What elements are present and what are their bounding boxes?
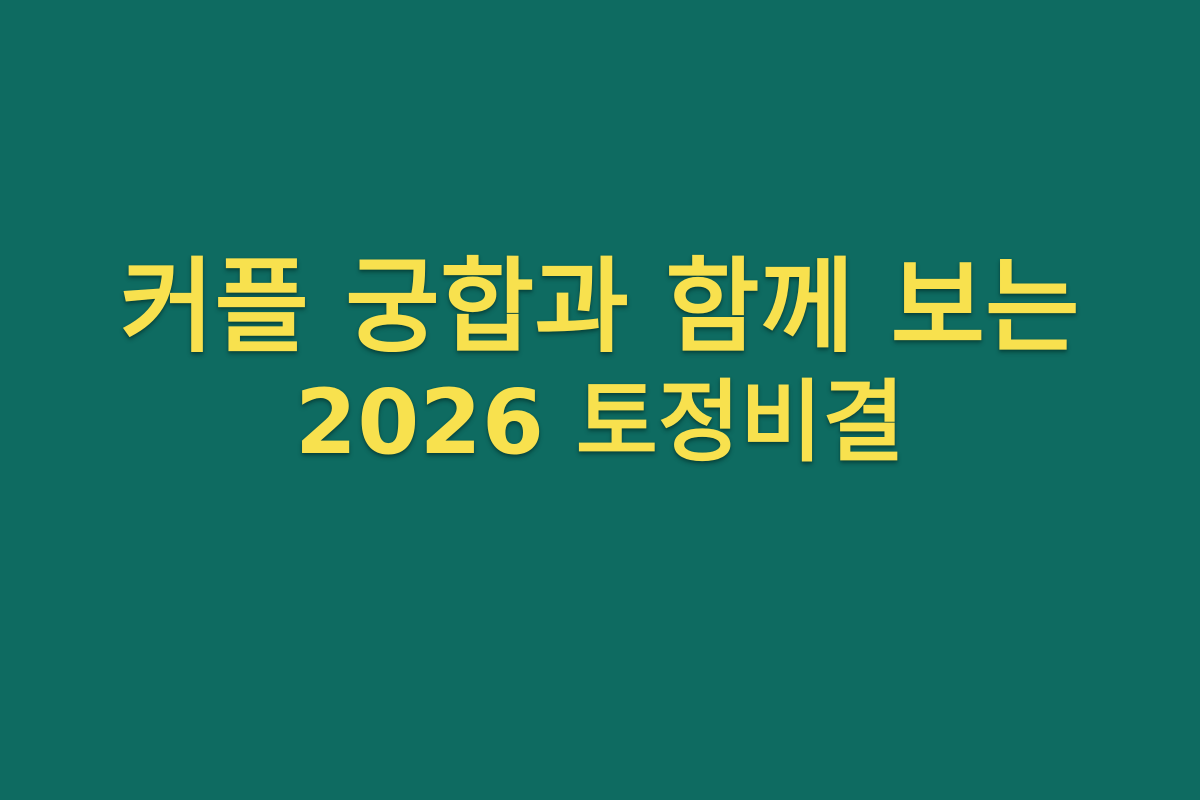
banner-background: 커플 궁합과 함께 보는 2026 토정비결 bbox=[0, 0, 1200, 800]
headline-block: 커플 궁합과 함께 보는 2026 토정비결 bbox=[0, 257, 1200, 466]
headline-line-2: 2026 토정비결 bbox=[295, 378, 905, 467]
headline-line-1: 커플 궁합과 함께 보는 bbox=[120, 257, 1080, 359]
